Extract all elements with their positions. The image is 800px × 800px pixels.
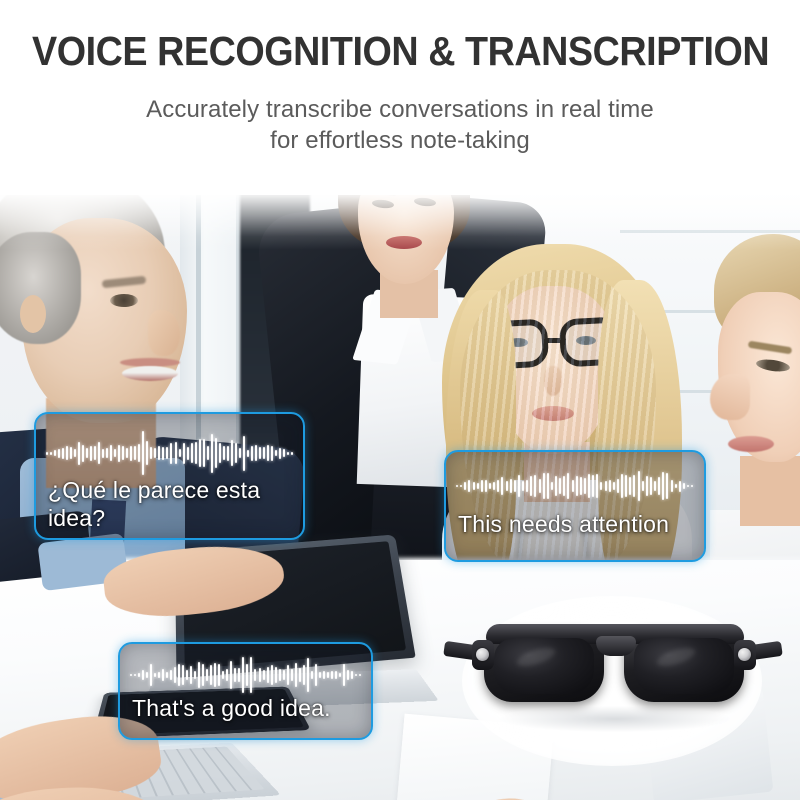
waveform-bar xyxy=(609,480,611,493)
waveform-bar xyxy=(267,667,269,683)
waveform-bar xyxy=(210,665,212,684)
waveform-bar xyxy=(654,481,656,491)
subtitle-line-2: for effortless note-taking xyxy=(0,125,800,156)
waveform-bar xyxy=(539,479,541,494)
waveform-bar xyxy=(130,674,132,677)
product-shadow xyxy=(500,706,730,732)
waveform-bar xyxy=(74,449,76,457)
waveform-bar xyxy=(331,671,333,678)
waveform-bar xyxy=(497,480,499,492)
waveform-bar xyxy=(683,483,685,490)
waveform-bar xyxy=(50,452,52,455)
waveform-bar xyxy=(142,431,144,475)
waveform-bar xyxy=(215,438,217,468)
waveform-bar xyxy=(118,445,120,462)
waveform-bar xyxy=(633,475,635,498)
waveform-bar xyxy=(134,446,136,460)
audio-waveform-icon xyxy=(46,428,293,478)
waveform-bar xyxy=(307,658,309,691)
waveform-bar xyxy=(203,439,205,468)
waveform-bar xyxy=(214,663,216,686)
waveform-bar xyxy=(355,674,357,677)
waveform-bar xyxy=(600,482,602,491)
waveform-bar xyxy=(650,477,652,494)
waveform-bar xyxy=(506,481,508,491)
waveform-bar xyxy=(514,480,516,491)
waveform-bar xyxy=(456,485,458,488)
waveform-bar xyxy=(279,448,281,459)
waveform-bar xyxy=(238,668,240,681)
waveform-bar xyxy=(246,664,248,685)
waveform-bar xyxy=(303,665,305,686)
waveform-bar xyxy=(231,440,233,467)
transcription-bubble-spanish[interactable]: ¿Qué le parece esta idea? xyxy=(34,412,305,540)
waveform-bar xyxy=(227,446,229,461)
waveform-bar xyxy=(526,480,528,491)
waveform-bar xyxy=(94,446,96,461)
waveform-bar xyxy=(687,485,689,488)
waveform-bar xyxy=(563,476,565,496)
waveform-bar xyxy=(658,477,660,495)
waveform-bar xyxy=(559,478,561,494)
waveform-bar xyxy=(142,670,144,679)
waveform-bar xyxy=(646,476,648,497)
waveform-bar xyxy=(255,445,257,461)
ear xyxy=(20,295,46,333)
waveform-bar xyxy=(283,449,285,457)
waveform-bar xyxy=(263,447,265,460)
waveform-bar xyxy=(218,664,220,686)
page-subtitle: Accurately transcribe conversations in r… xyxy=(0,94,800,156)
waveform-bar xyxy=(275,450,277,456)
waveform-bar xyxy=(190,666,192,684)
lens-right xyxy=(634,638,734,694)
waveform-bar xyxy=(254,669,256,681)
header: VOICE RECOGNITION & TRANSCRIPTION Accura… xyxy=(0,0,800,195)
waveform-bar xyxy=(158,446,160,460)
waveform-bar xyxy=(242,657,244,694)
waveform-bar xyxy=(323,671,325,679)
waveform-bar xyxy=(146,672,148,679)
nose xyxy=(710,374,750,420)
transcription-bubble-good-idea[interactable]: That's a good idea. xyxy=(118,642,373,740)
waveform-bar xyxy=(247,450,249,457)
transcription-text: This needs attention xyxy=(458,510,696,538)
waveform-bar xyxy=(319,672,321,678)
mouth xyxy=(122,366,178,381)
waveform-bar xyxy=(679,481,681,492)
waveform-bar xyxy=(501,477,503,495)
waveform-bar xyxy=(596,474,598,498)
waveform-bar xyxy=(530,476,532,496)
page-title: VOICE RECOGNITION & TRANSCRIPTION xyxy=(32,28,768,75)
waveform-bar xyxy=(621,474,623,498)
waveform-bar xyxy=(464,482,466,489)
waveform-bar xyxy=(150,664,152,687)
waveform-bar xyxy=(183,443,185,464)
waveform-bar xyxy=(222,671,224,678)
waveform-bar xyxy=(102,449,104,458)
waveform-bar xyxy=(291,669,293,682)
waveform-bar xyxy=(287,452,289,455)
waveform-bar xyxy=(154,448,156,459)
waveform-bar xyxy=(199,439,201,468)
waveform-bar xyxy=(86,448,88,458)
neck xyxy=(740,456,800,526)
waveform-bar xyxy=(311,671,313,679)
waveform-bar xyxy=(166,672,168,679)
waveform-bar xyxy=(567,473,569,498)
waveform-bar xyxy=(625,475,627,497)
audio-waveform-icon xyxy=(456,464,694,508)
waveform-bar xyxy=(588,474,590,498)
waveform-bar xyxy=(460,485,462,488)
waveform-bar xyxy=(154,673,156,678)
waveform-bar xyxy=(547,473,549,499)
waveform-bar xyxy=(267,445,269,461)
waveform-bar xyxy=(194,671,196,680)
waveform-bar xyxy=(485,480,487,492)
waveform-bar xyxy=(359,674,361,677)
waveform-bar xyxy=(70,447,72,459)
subtitle-line-1: Accurately transcribe conversations in r… xyxy=(0,94,800,125)
waveform-bar xyxy=(122,446,124,460)
waveform-bar xyxy=(178,664,180,686)
waveform-bar xyxy=(82,445,84,462)
waveform-bar xyxy=(110,445,112,462)
waveform-bar xyxy=(179,449,181,458)
waveform-bar xyxy=(114,449,116,457)
waveform-bar xyxy=(219,443,221,464)
waveform-bar xyxy=(638,471,640,500)
waveform-bar xyxy=(106,448,108,459)
waveform-bar xyxy=(263,670,265,681)
waveform-bar xyxy=(287,665,289,685)
waveform-bar xyxy=(295,663,297,687)
waveform-bar xyxy=(617,479,619,493)
lens-left xyxy=(494,638,594,694)
waveform-bar xyxy=(576,476,578,496)
waveform-bar xyxy=(234,668,236,682)
waveform-bar xyxy=(613,482,615,490)
waveform-bar xyxy=(206,669,208,680)
waveform-bar xyxy=(291,452,293,455)
waveform-bar xyxy=(166,447,168,459)
waveform-bar xyxy=(182,665,184,685)
waveform-bar xyxy=(299,668,301,681)
waveform-bar xyxy=(347,670,349,681)
transcription-text: ¿Qué le parece esta idea? xyxy=(48,476,295,532)
waveform-bar xyxy=(259,447,261,459)
waveform-bar xyxy=(572,480,574,491)
waveform-bar xyxy=(351,671,353,678)
waveform-bar xyxy=(98,442,100,464)
waveform-bar xyxy=(283,670,285,681)
waveform-bar xyxy=(54,450,56,456)
waveform-bar xyxy=(642,481,644,491)
waveform-bar xyxy=(271,665,273,686)
waveform-bar xyxy=(170,443,172,464)
waveform-bar xyxy=(223,446,225,461)
waveform-bar xyxy=(592,475,594,497)
transcription-bubble-attention[interactable]: This needs attention xyxy=(444,450,706,562)
waveform-bar xyxy=(510,479,512,493)
waveform-bar xyxy=(62,448,64,459)
audio-waveform-icon xyxy=(130,654,361,696)
waveform-bar xyxy=(230,661,232,688)
waveform-bar xyxy=(150,447,152,459)
waveform-bar xyxy=(335,671,337,679)
waveform-bar xyxy=(207,446,209,461)
waveform-bar xyxy=(134,674,136,677)
smart-sunglasses xyxy=(478,622,750,708)
waveform-bar xyxy=(473,482,475,489)
waveform-bar xyxy=(186,670,188,681)
waveform-bar xyxy=(522,481,524,491)
waveform-bar xyxy=(691,485,693,488)
waveform-bar xyxy=(279,669,281,681)
waveform-bar xyxy=(605,481,607,491)
eye xyxy=(110,294,138,307)
waveform-bar xyxy=(174,667,176,683)
waveform-bar xyxy=(138,673,140,676)
waveform-bar xyxy=(584,478,586,495)
waveform-bar xyxy=(235,443,237,463)
waveform-bar xyxy=(327,672,329,677)
waveform-bar xyxy=(543,473,545,499)
waveform-bar xyxy=(675,484,677,489)
waveform-bar xyxy=(671,480,673,491)
waveform-bar xyxy=(130,446,132,461)
waveform-bar xyxy=(162,447,164,460)
waveform-bar xyxy=(580,477,582,496)
waveform-bar xyxy=(162,669,164,682)
waveform-bar xyxy=(629,477,631,496)
waveform-bar xyxy=(158,672,160,678)
waveform-bar xyxy=(662,472,664,501)
transcription-text: That's a good idea. xyxy=(132,694,363,722)
waveform-bar xyxy=(243,436,245,471)
waveform-bar xyxy=(211,434,213,473)
waveform-bar xyxy=(239,448,241,458)
waveform-bar xyxy=(271,446,273,461)
waveform-bar xyxy=(534,475,536,496)
lips xyxy=(728,436,774,452)
waveform-bar xyxy=(226,669,228,682)
waveform-bar xyxy=(187,447,189,460)
waveform-bar xyxy=(339,673,341,677)
waveform-bar xyxy=(195,442,197,464)
waveform-bar xyxy=(202,664,204,686)
waveform-bar xyxy=(315,664,317,685)
waveform-bar xyxy=(250,657,252,694)
waveform-bar xyxy=(275,667,277,683)
waveform-bar xyxy=(191,443,193,464)
waveform-bar xyxy=(481,480,483,492)
waveform-bar xyxy=(66,446,68,460)
waveform-bar xyxy=(126,448,128,459)
waveform-bar xyxy=(555,476,557,496)
frame-bridge xyxy=(596,636,636,656)
waveform-bar xyxy=(90,446,92,461)
waveform-bar xyxy=(493,482,495,489)
waveform-bar xyxy=(58,449,60,458)
waveform-bar xyxy=(78,442,80,465)
waveform-bar xyxy=(198,662,200,687)
camera-icon-right xyxy=(738,648,751,661)
camera-icon-left xyxy=(476,648,489,661)
waveform-bar xyxy=(666,473,668,499)
nose xyxy=(148,310,180,356)
waveform-bar xyxy=(138,444,140,462)
waveform-bar xyxy=(259,668,261,682)
waveform-bar xyxy=(468,480,470,492)
waveform-bar xyxy=(46,452,48,455)
waveform-bar xyxy=(170,670,172,681)
waveform-bar xyxy=(518,475,520,498)
waveform-bar xyxy=(551,482,553,489)
waveform-bar xyxy=(251,446,253,461)
waveform-bar xyxy=(175,442,177,465)
waveform-bar xyxy=(477,483,479,490)
promo-banner: VOICE RECOGNITION & TRANSCRIPTION Accura… xyxy=(0,0,800,800)
waveform-bar xyxy=(146,441,148,466)
waveform-bar xyxy=(343,664,345,686)
waveform-bar xyxy=(489,483,491,489)
